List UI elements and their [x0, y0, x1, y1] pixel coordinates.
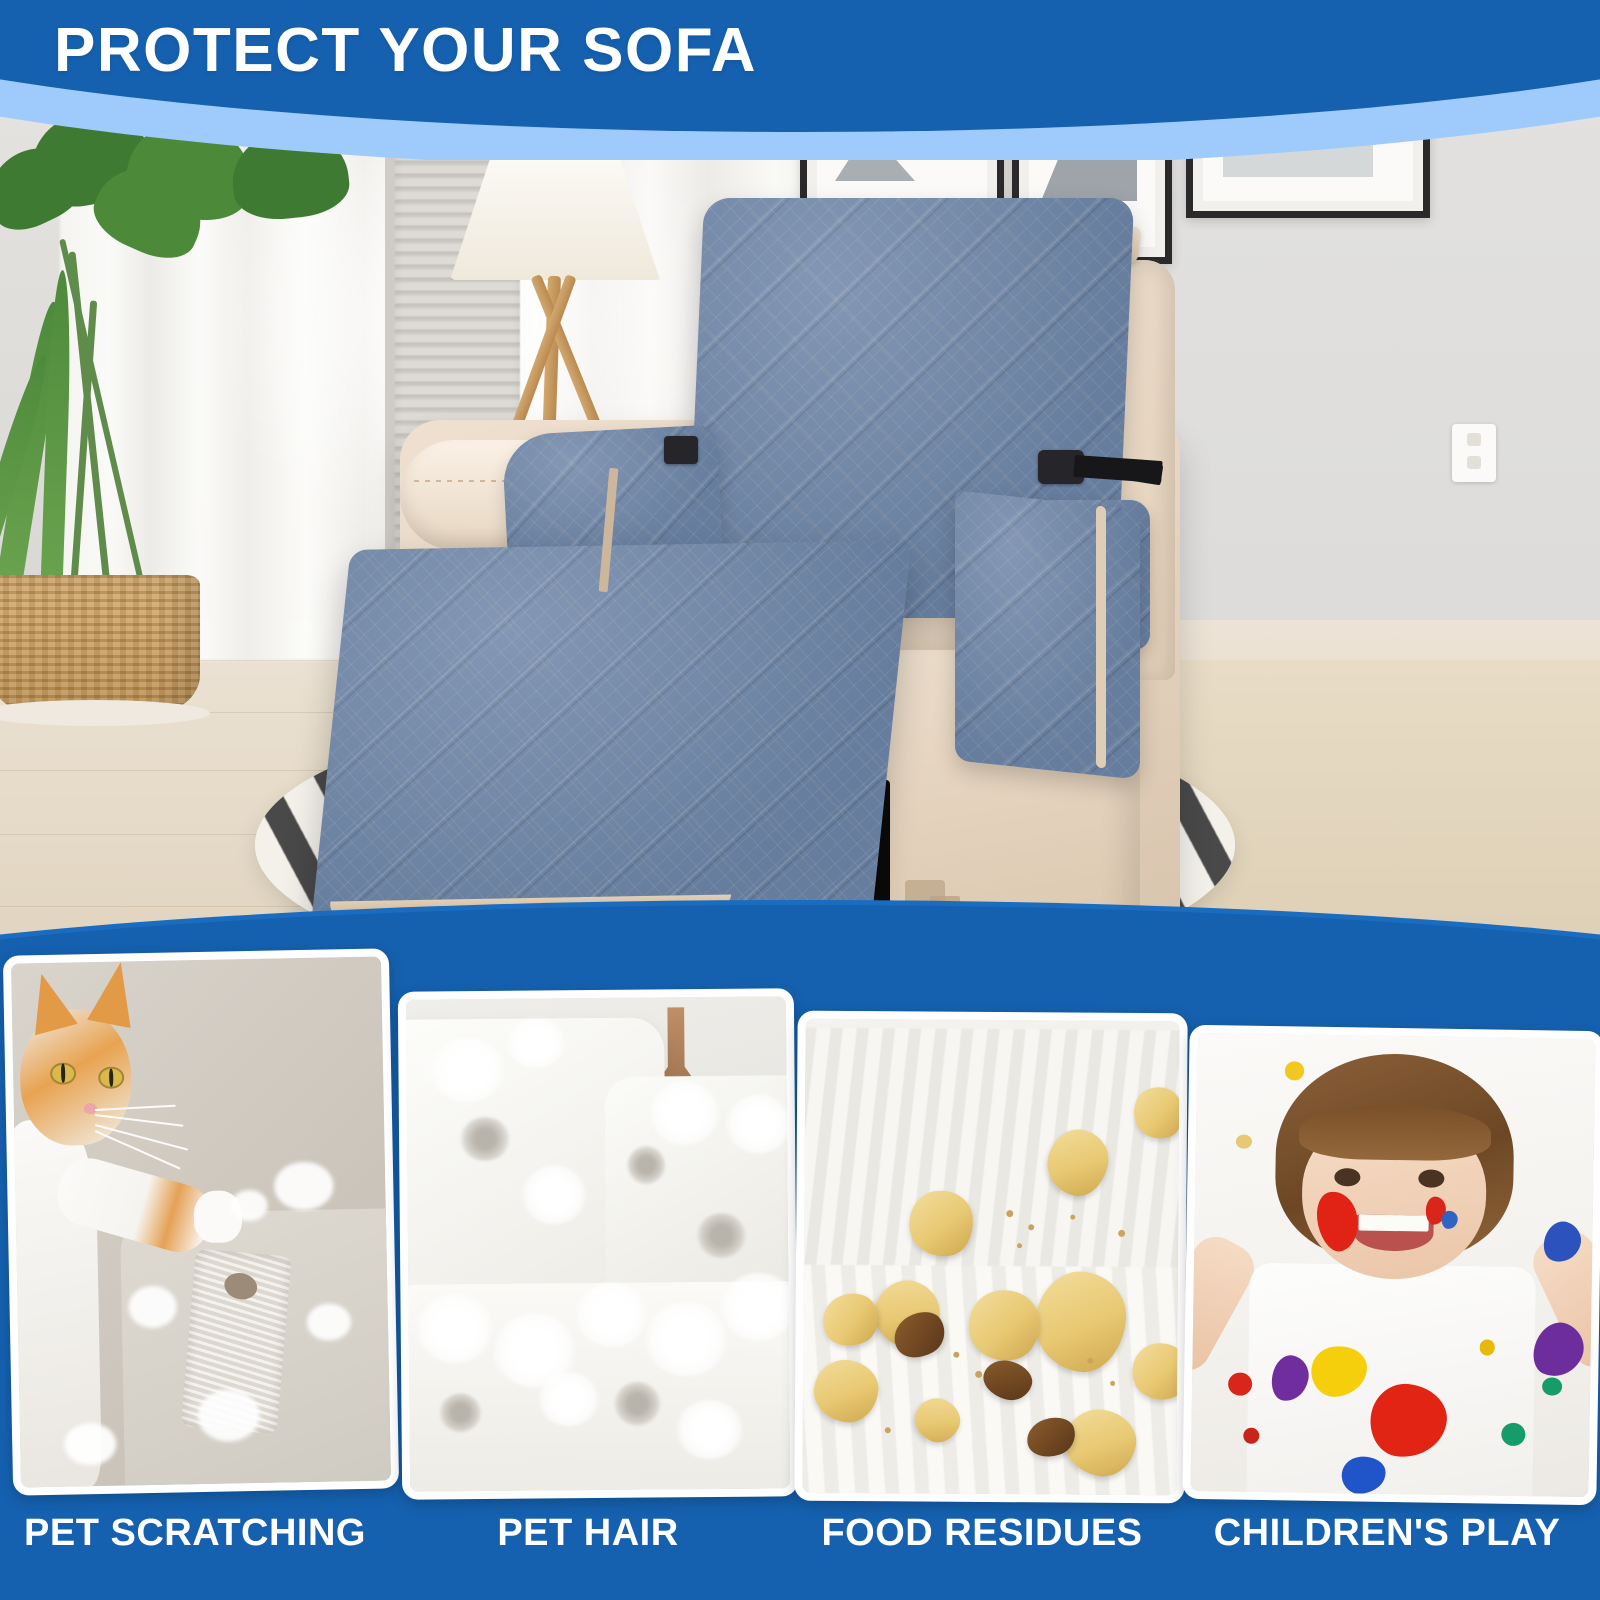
product-marketing-image: PET SCRATCHING PET HAIR FOOD RESIDUES CH… — [0, 0, 1600, 1600]
benefit-card-childrens-play[interactable] — [1182, 1025, 1600, 1505]
benefit-card-food-residues[interactable] — [794, 1011, 1187, 1504]
benefit-card-pet-scratching[interactable] — [3, 948, 399, 1495]
benefit-card-pet-hair[interactable] — [398, 988, 798, 1499]
benefit-label-childrens-play: CHILDREN'S PLAY — [1182, 1512, 1592, 1555]
benefit-thumbnail-grid — [0, 0, 1600, 1600]
benefit-label-food-residues: FOOD RESIDUES — [786, 1512, 1178, 1555]
page-title: PROTECT YOUR SOFA — [54, 20, 757, 82]
benefit-label-pet-hair: PET HAIR — [392, 1512, 784, 1555]
benefit-label-pet-scratching: PET SCRATCHING — [0, 1512, 390, 1555]
